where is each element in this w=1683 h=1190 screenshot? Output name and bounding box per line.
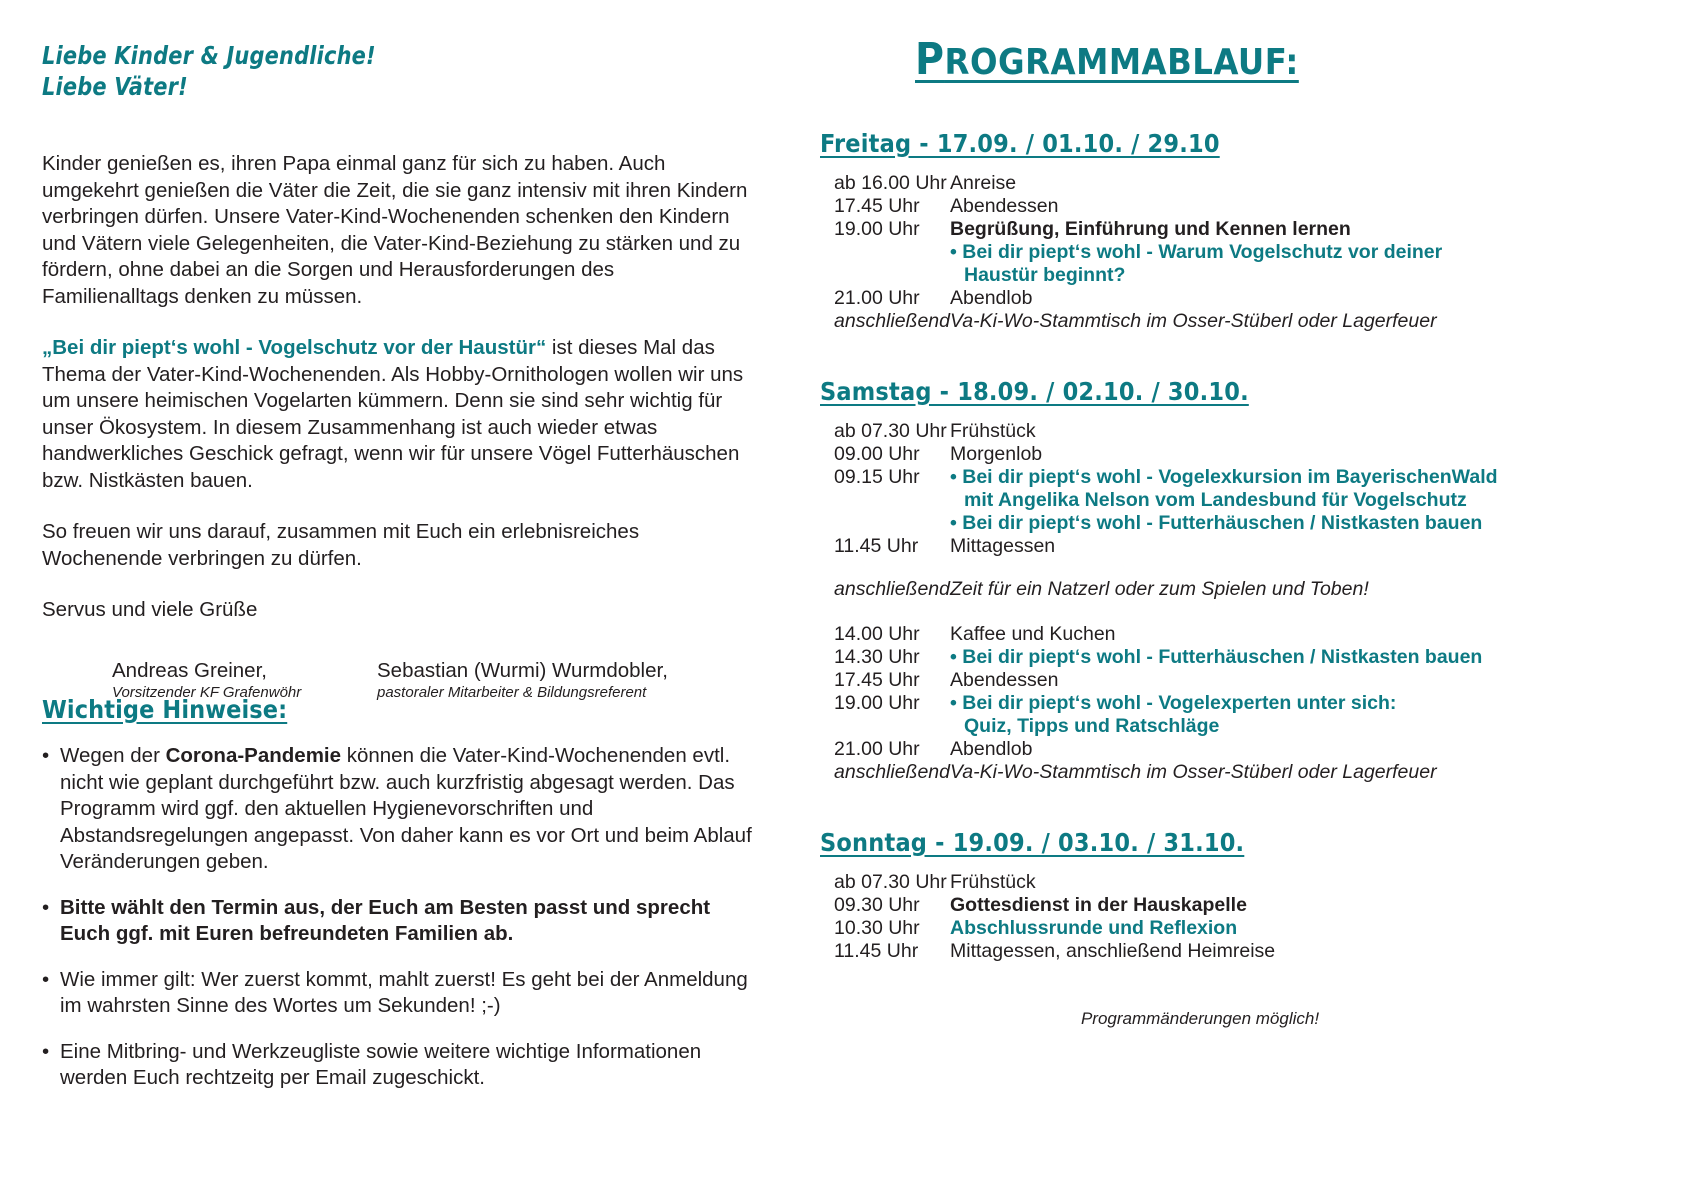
bullet-icon: • (42, 1039, 60, 1092)
row-desc-line1: • Bei dir piept‘s wohl - Vogelexperten u… (950, 692, 1396, 714)
schedule-row: 21.00 Uhr Abendlob (820, 738, 1650, 761)
row-desc: Frühstück (950, 420, 1650, 443)
row-time: 21.00 Uhr (820, 287, 950, 310)
row-time: ab 07.30 Uhr (820, 420, 950, 443)
row-desc: Anreise (950, 172, 1650, 195)
row-desc: • Bei dir piept‘s wohl - Futterhäuschen … (950, 512, 1650, 535)
row-desc: Gottesdienst in der Hauskapelle (950, 894, 1650, 917)
note-item: • Bitte wählt den Termin aus, der Euch a… (42, 895, 764, 948)
closing-greeting: Servus und viele Grüße (42, 597, 752, 624)
schedule-row-highlight: 14.30 Uhr • Bei dir piept‘s wohl - Futte… (820, 646, 1650, 669)
schedule-row: 11.45 Uhr Mittagessen, anschließend Heim… (820, 940, 1650, 963)
letter-column: Liebe Kinder & Jugendliche! Liebe Väter!… (42, 40, 752, 704)
schedule-row: ab 07.30 Uhr Frühstück (820, 871, 1650, 894)
row-time: 11.45 Uhr (820, 535, 950, 558)
day-heading: Samstag - 18.09. / 02.10. / 30.10. (820, 377, 1249, 406)
schedule-row-highlight: 19.00 Uhr • Bei dir piept‘s wohl - Vogel… (820, 692, 1650, 738)
row-desc: Abendessen (950, 669, 1650, 692)
note-item: • Wie immer gilt: Wer zuerst kommt, mahl… (42, 967, 764, 1020)
row-desc: Begrüßung, Einführung und Kennen lernen (950, 218, 1650, 241)
row-time: 09.00 Uhr (820, 443, 950, 466)
row-desc: • Bei dir piept‘s wohl - Vogelexperten u… (950, 692, 1650, 738)
row-time: 17.45 Uhr (820, 669, 950, 692)
row-desc: Zeit für ein Natzerl oder zum Spielen un… (950, 578, 1650, 601)
row-desc: Va-Ki-Wo-Stammtisch im Osser-Stüberl ode… (950, 310, 1650, 333)
row-desc-line1: • Bei dir piept‘s wohl - Vogelexkursion … (950, 466, 1498, 488)
row-desc: Mittagessen (950, 535, 1650, 558)
note-text: Eine Mitbring- und Werkzeugliste sowie w… (60, 1039, 764, 1092)
bullet-icon: • (42, 967, 60, 1020)
note-text: Wie immer gilt: Wer zuerst kommt, mahlt … (60, 967, 764, 1020)
day-block-friday: Freitag - 17.09. / 01.10. / 29.10 ab 16.… (820, 129, 1650, 333)
salutation-line-2: Liebe Väter! (42, 71, 702, 102)
schedule-rows: ab 07.30 Uhr Frühstück 09.30 Uhr Gottesd… (820, 871, 1650, 963)
row-desc-line2: mit Angelika Nelson vom Landesbund für V… (950, 489, 1650, 512)
bullet-icon: • (42, 895, 60, 948)
schedule-row: 21.00 Uhr Abendlob (820, 287, 1650, 310)
row-time: 21.00 Uhr (820, 738, 950, 761)
note-lead-bold: Corona-Pandemie (166, 744, 341, 767)
row-desc: Kaffee und Kuchen (950, 623, 1650, 646)
schedule-row-highlight: • Bei dir piept‘s wohl - Futterhäuschen … (820, 512, 1650, 535)
row-time: 19.00 Uhr (820, 692, 950, 715)
schedule-row: ab 07.30 Uhr Frühstück (820, 420, 1650, 443)
flyer-page: Liebe Kinder & Jugendliche! Liebe Väter!… (0, 0, 1683, 1190)
schedule-row: 14.00 Uhr Kaffee und Kuchen (820, 623, 1650, 646)
row-desc-line2: Quiz, Tipps und Ratschläge (950, 715, 1650, 738)
intro-paragraph-1: Kinder genießen es, ihren Papa einmal ga… (42, 151, 752, 310)
schedule-row: 11.45 Uhr Mittagessen (820, 535, 1650, 558)
row-desc: Morgenlob (950, 443, 1650, 466)
row-desc: • Bei dir piept‘s wohl - Warum Vogelschu… (950, 241, 1650, 287)
row-desc: Abendessen (950, 195, 1650, 218)
row-time: 14.30 Uhr (820, 646, 950, 669)
row-time: 14.00 Uhr (820, 623, 950, 646)
program-title: PROGRAMMABLAUF: (915, 34, 1299, 85)
schedule-row: 17.45 Uhr Abendessen (820, 195, 1650, 218)
row-time: ab 07.30 Uhr (820, 871, 950, 894)
bullet-icon: • (42, 743, 60, 876)
row-desc-line2: Haustür beginnt? (950, 264, 1650, 287)
note-text-before: Wegen der (60, 744, 166, 767)
signature-left-name: Andreas Greiner, (112, 658, 301, 683)
program-column: PROGRAMMABLAUF: Freitag - 17.09. / 01.10… (820, 34, 1650, 1029)
important-notes-section: Wichtige Hinweise: • Wegen der Corona-Pa… (42, 695, 764, 1092)
note-text: Bitte wählt den Termin aus, der Euch am … (60, 895, 764, 948)
schedule-row-highlight: 10.30 Uhr Abschlussrunde und Reflexion (820, 917, 1650, 940)
schedule-trailing-note: anschließend Va-Ki-Wo-Stammtisch im Osse… (820, 310, 1650, 333)
row-time: anschließend (820, 578, 950, 601)
row-time: ab 16.00 Uhr (820, 172, 950, 195)
day-block-saturday: Samstag - 18.09. / 02.10. / 30.10. ab 07… (820, 377, 1650, 784)
note-item: • Wegen der Corona-Pandemie können die V… (42, 743, 764, 876)
schedule-mid-note: anschließend Zeit für ein Natzerl oder z… (820, 578, 1650, 601)
schedule-row: ab 16.00 Uhr Anreise (820, 172, 1650, 195)
theme-rest: ist dieses Mal das Thema der Vater-Kind-… (42, 336, 743, 492)
row-desc: Va-Ki-Wo-Stammtisch im Osser-Stüberl ode… (950, 761, 1650, 784)
note-text: Wegen der Corona-Pandemie können die Vat… (60, 743, 764, 876)
intro-paragraph-3: So freuen wir uns darauf, zusammen mit E… (42, 519, 752, 572)
day-heading: Sonntag - 19.09. / 03.10. / 31.10. (820, 828, 1244, 857)
row-time: anschließend (820, 310, 950, 333)
row-desc: Abendlob (950, 287, 1650, 310)
schedule-row: 09.00 Uhr Morgenlob (820, 443, 1650, 466)
row-desc: Mittagessen, anschließend Heimreise (950, 940, 1650, 963)
schedule-row-highlight: • Bei dir piept‘s wohl - Warum Vogelschu… (820, 241, 1650, 287)
schedule-row: 09.30 Uhr Gottesdienst in der Hauskapell… (820, 894, 1650, 917)
notes-title: Wichtige Hinweise: (42, 695, 287, 724)
row-desc: Abendlob (950, 738, 1650, 761)
schedule-rows: ab 16.00 Uhr Anreise 17.45 Uhr Abendesse… (820, 172, 1650, 333)
signature-right-name: Sebastian (Wurmi) Wurmdobler, (377, 658, 668, 683)
row-time: 10.30 Uhr (820, 917, 950, 940)
program-footer-note: Programmänderungen möglich! (820, 1009, 1650, 1029)
intro-paragraph-2: „Bei dir piept‘s wohl - Vogelschutz vor … (42, 335, 752, 494)
day-block-sunday: Sonntag - 19.09. / 03.10. / 31.10. ab 07… (820, 828, 1650, 963)
schedule-row-highlight: 09.15 Uhr • Bei dir piept‘s wohl - Vogel… (820, 466, 1650, 512)
salutation-block: Liebe Kinder & Jugendliche! Liebe Väter! (42, 40, 702, 102)
row-time: 19.00 Uhr (820, 218, 950, 241)
row-desc: • Bei dir piept‘s wohl - Vogelexkursion … (950, 466, 1650, 512)
row-time: 11.45 Uhr (820, 940, 950, 963)
row-desc: Abschlussrunde und Reflexion (950, 917, 1650, 940)
salutation-line-1: Liebe Kinder & Jugendliche! (42, 40, 702, 71)
row-desc-line1: • Bei dir piept‘s wohl - Warum Vogelschu… (950, 241, 1442, 263)
schedule-row: 17.45 Uhr Abendessen (820, 669, 1650, 692)
row-time: anschließend (820, 761, 950, 784)
row-time: 17.45 Uhr (820, 195, 950, 218)
schedule-row: 19.00 Uhr Begrüßung, Einführung und Kenn… (820, 218, 1650, 241)
row-desc: Frühstück (950, 871, 1650, 894)
day-heading: Freitag - 17.09. / 01.10. / 29.10 (820, 129, 1220, 158)
theme-highlight: „Bei dir piept‘s wohl - Vogelschutz vor … (42, 336, 546, 359)
row-time: 09.15 Uhr (820, 466, 950, 489)
row-desc: • Bei dir piept‘s wohl - Futterhäuschen … (950, 646, 1650, 669)
schedule-rows: ab 07.30 Uhr Frühstück 09.00 Uhr Morgenl… (820, 420, 1650, 784)
note-item: • Eine Mitbring- und Werkzeugliste sowie… (42, 1039, 764, 1092)
schedule-trailing-note: anschließend Va-Ki-Wo-Stammtisch im Osse… (820, 761, 1650, 784)
row-time: 09.30 Uhr (820, 894, 950, 917)
